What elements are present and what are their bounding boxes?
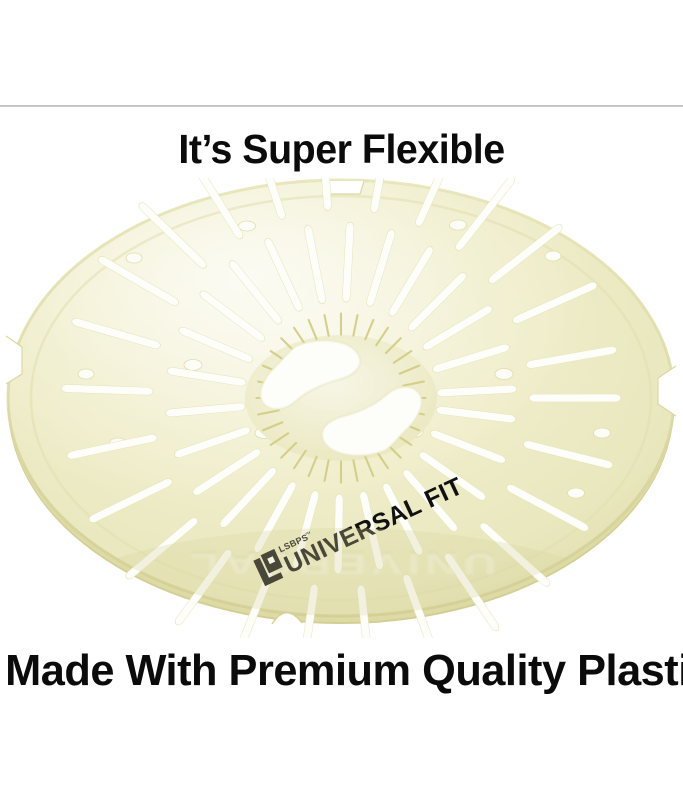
headline-top: It’s Super Flexible [14, 126, 670, 172]
top-divider [0, 105, 683, 107]
headline-bottom: Made With Premium Quality Plastic [5, 646, 678, 696]
product-photo: UNIVERSAL UNIVERSAL [0, 178, 683, 638]
product-illustration: UNIVERSAL UNIVERSAL [0, 178, 683, 638]
